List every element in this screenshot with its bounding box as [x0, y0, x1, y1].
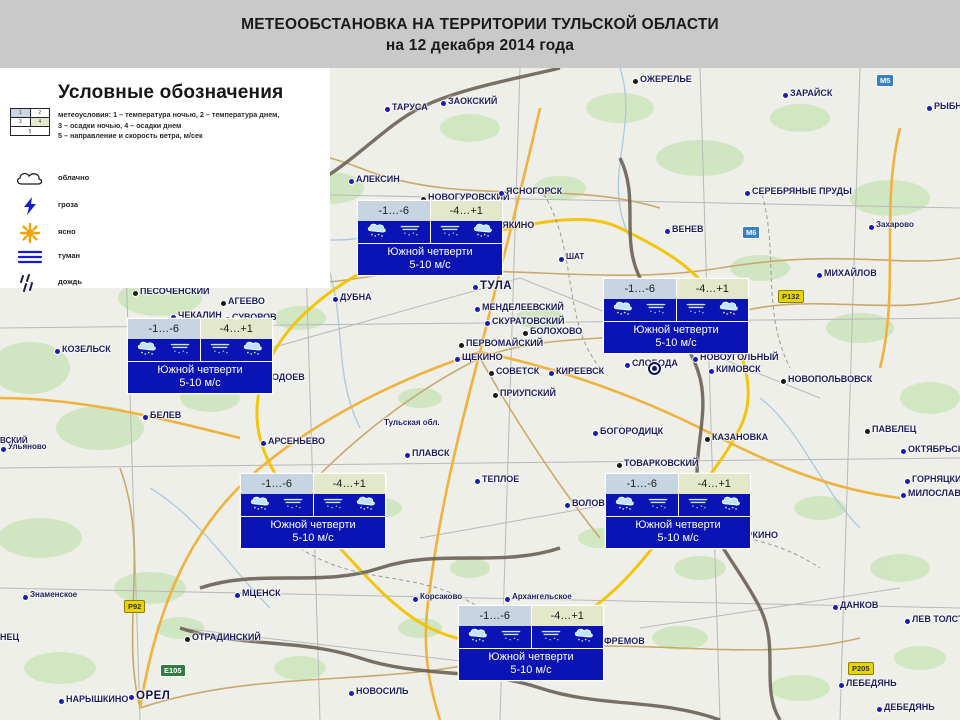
map-city-dot [1, 447, 6, 452]
temperature-night: -1…-6 [604, 279, 677, 299]
map-city-dot [235, 593, 240, 598]
callout-wind-row: Южной четверти5-10 м/с [128, 361, 272, 393]
callout-southeast[interactable]: -1…-6-4…+1 [605, 473, 751, 549]
road-shield: Е105 [160, 664, 186, 677]
callout-wind-row: Южной четверти5-10 м/с [606, 516, 750, 548]
wind-speed: 5-10 м/с [604, 337, 748, 350]
precipitation-day [532, 626, 604, 648]
fog-snow-icon [499, 628, 523, 647]
map-city-dot [221, 301, 226, 306]
temperature-day: -4…+1 [532, 606, 604, 626]
map-city-dot [817, 273, 822, 278]
map-focus-marker [648, 362, 661, 375]
snow-cloud-icon [472, 222, 494, 243]
map-city-dot [385, 107, 390, 112]
map-city-dot [905, 479, 910, 484]
callout-east[interactable]: -1…-6-4…+1 [603, 278, 749, 354]
map-city-dot [665, 229, 670, 234]
precipitation-day [679, 494, 751, 516]
map-city-dot [473, 285, 478, 290]
map-city-dot [745, 191, 750, 196]
schematic-cell-1: 1 [11, 109, 31, 117]
rain-icon [10, 270, 50, 296]
callout-wind-row: Южной четверти5-10 м/с [241, 516, 385, 548]
precipitation-night [128, 339, 201, 361]
temperature-day: -4…+1 [201, 319, 273, 339]
callout-temperature-row: -1…-6-4…+1 [241, 474, 385, 494]
legend-description-line-1: метеоусловия: 1 – температура ночью, 2 –… [58, 110, 320, 121]
wind-speed: 5-10 м/с [459, 664, 603, 677]
fog-snow-icon [646, 496, 670, 515]
snow-cloud-icon [249, 495, 271, 516]
road-shield: М6 [742, 226, 760, 239]
precipitation-night [604, 299, 677, 321]
map-city-dot [55, 349, 60, 354]
precipitation-day [677, 299, 749, 321]
precipitation-night [459, 626, 532, 648]
callout-west[interactable]: -1…-6-4…+1 [127, 318, 273, 394]
callout-temperature-row: -1…-6-4…+1 [459, 606, 603, 626]
title-line-2: на 12 декабря 2014 года [0, 35, 960, 56]
fog-snow-icon [168, 341, 192, 360]
map-city-dot [333, 297, 338, 302]
callout-wind-row: Южной четверти5-10 м/с [604, 321, 748, 353]
legend-item-fog-label: туман [58, 251, 80, 260]
map-city-dot [185, 637, 190, 642]
snow-cloud-icon [614, 495, 636, 516]
map-city-dot [405, 453, 410, 458]
precipitation-night [241, 494, 314, 516]
fog-snow-icon [321, 496, 345, 515]
map-city-dot [261, 441, 266, 446]
map-city-dot [839, 683, 844, 688]
callout-precipitation-row [604, 299, 748, 321]
slide-header: МЕТЕООБСТАНОВКА НА ТЕРРИТОРИИ ТУЛЬСКОЙ О… [0, 0, 960, 68]
fog-snow-icon [644, 301, 668, 320]
wind-speed: 5-10 м/с [241, 532, 385, 545]
map-city-dot [489, 371, 494, 376]
schematic-cell-4: 4 [31, 118, 50, 126]
map-city-dot [349, 691, 354, 696]
fog-snow-icon [539, 628, 563, 647]
callout-temperature-row: -1…-6-4…+1 [358, 201, 502, 221]
callout-wind-row: Южной четверти5-10 м/с [459, 648, 603, 680]
callout-precipitation-row [128, 339, 272, 361]
snow-cloud-icon [366, 222, 388, 243]
legend-item-cloud-label: облачно [58, 173, 89, 182]
map-city-dot [633, 79, 638, 84]
temperature-night: -1…-6 [358, 201, 431, 221]
fog-snow-icon [684, 301, 708, 320]
legend-item-fog: туман [0, 244, 330, 270]
wind-direction: Южной четверти [604, 324, 748, 337]
map-city-dot [781, 379, 786, 384]
wind-direction: Южной четверти [241, 519, 385, 532]
map-city-dot [475, 307, 480, 312]
wind-direction: Южной четверти [606, 519, 750, 532]
map-city-dot [877, 707, 882, 712]
sun-icon [10, 220, 50, 246]
map-city-dot [617, 463, 622, 468]
temperature-night: -1…-6 [241, 474, 314, 494]
map-city-dot [549, 371, 554, 376]
snow-cloud-icon [612, 300, 634, 321]
snow-cloud-icon [720, 495, 742, 516]
legend-item-rain: дождь [0, 270, 330, 296]
road-shield: Р92 [124, 600, 145, 613]
fog-snow-icon [208, 341, 232, 360]
wind-speed: 5-10 м/с [358, 259, 502, 272]
snow-cloud-icon [718, 300, 740, 321]
legend-item-sun-label: ясно [58, 227, 76, 236]
map-city-dot [441, 101, 446, 106]
wind-speed: 5-10 м/с [606, 532, 750, 545]
page-title: МЕТЕООБСТАНОВКА НА ТЕРРИТОРИИ ТУЛЬСКОЙ О… [0, 14, 960, 56]
map-city-dot [905, 619, 910, 624]
precipitation-day [314, 494, 386, 516]
legend-description-line-2: 3 – осадки ночью, 4 – осадки днем [58, 121, 320, 132]
map-city-dot [485, 321, 490, 326]
map-city-dot [693, 357, 698, 362]
map-city-dot [413, 597, 418, 602]
fog-snow-icon [281, 496, 305, 515]
fog-snow-icon [398, 223, 422, 242]
wind-direction: Южной четверти [128, 364, 272, 377]
map-city-dot [927, 106, 932, 111]
temperature-day: -4…+1 [431, 201, 503, 221]
map-city-dot [59, 699, 64, 704]
map-city-dot [493, 393, 498, 398]
legend-description: метеоусловия: 1 – температура ночью, 2 –… [58, 110, 320, 142]
callout-temperature-row: -1…-6-4…+1 [606, 474, 750, 494]
map-city-dot [565, 503, 570, 508]
fog-snow-icon [686, 496, 710, 515]
wind-speed: 5-10 м/с [128, 377, 272, 390]
snow-cloud-icon [136, 340, 158, 361]
map-city-dot [625, 363, 630, 368]
map-city-dot [559, 257, 564, 262]
precipitation-night [358, 221, 431, 243]
slide-root: МЕТЕООБСТАНОВКА НА ТЕРРИТОРИИ ТУЛЬСКОЙ О… [0, 0, 960, 720]
temperature-day: -4…+1 [677, 279, 749, 299]
snow-cloud-icon [573, 627, 595, 648]
map-city-dot [705, 437, 710, 442]
map-city-dot [593, 431, 598, 436]
fog-icon [10, 244, 50, 270]
map-city-dot [709, 369, 714, 374]
map-city-dot [901, 449, 906, 454]
map-city-dot [833, 605, 838, 610]
precipitation-day [431, 221, 503, 243]
callout-precipitation-row [241, 494, 385, 516]
snow-cloud-icon [242, 340, 264, 361]
map-city-dot [523, 331, 528, 336]
map-city-dot [143, 415, 148, 420]
legend-schematic-table: 1 2 3 4 5 [10, 108, 50, 136]
lightning-icon [10, 193, 50, 219]
snow-cloud-icon [355, 495, 377, 516]
title-line-1: МЕТЕООБСТАНОВКА НА ТЕРРИТОРИИ ТУЛЬСКОЙ О… [241, 16, 719, 33]
precipitation-day [201, 339, 273, 361]
temperature-night: -1…-6 [128, 319, 201, 339]
map-city-dot [865, 429, 870, 434]
schematic-cell-3: 3 [11, 118, 31, 126]
map-city-dot [475, 479, 480, 484]
map-city-dot [129, 695, 134, 700]
legend-item-rain-label: дождь [58, 277, 82, 286]
wind-direction: Южной четверти [358, 246, 502, 259]
map-city-dot [505, 597, 510, 602]
cloud-icon [10, 166, 50, 192]
fog-snow-icon [438, 223, 462, 242]
callout-wind-row: Южной четверти5-10 м/с [358, 243, 502, 275]
callout-temperature-row: -1…-6-4…+1 [128, 319, 272, 339]
legend-item-cloud: облачно [0, 166, 330, 192]
map-city-dot [459, 343, 464, 348]
legend-title: Условные обозначения [58, 82, 283, 104]
map-city-dot [499, 191, 504, 196]
road-shield: М5 [876, 74, 894, 87]
map-city-dot [349, 179, 354, 184]
road-shield: Р132 [778, 290, 804, 303]
map-city-dot [455, 357, 460, 362]
callout-precipitation-row [459, 626, 603, 648]
legend-item-lightning: гроза [0, 193, 330, 219]
schematic-cell-2: 2 [31, 109, 50, 117]
map-city-dot [23, 595, 28, 600]
road-shield: Р205 [848, 662, 874, 675]
temperature-night: -1…-6 [459, 606, 532, 626]
callout-precipitation-row [606, 494, 750, 516]
callout-temperature-row: -1…-6-4…+1 [604, 279, 748, 299]
map-city-dot [901, 493, 906, 498]
schematic-cell-5: 5 [11, 127, 49, 137]
legend-item-sun: ясно [0, 220, 330, 246]
callout-south[interactable]: -1…-6-4…+1 [458, 605, 604, 681]
map-city-dot [869, 225, 874, 230]
snow-cloud-icon [467, 627, 489, 648]
map-city-dot [783, 93, 788, 98]
temperature-day: -4…+1 [314, 474, 386, 494]
temperature-night: -1…-6 [606, 474, 679, 494]
callout-southwest[interactable]: -1…-6-4…+1 [240, 473, 386, 549]
callout-precipitation-row [358, 221, 502, 243]
legend-description-line-3: 5 – направление и скорость ветра, м/сек [58, 131, 320, 142]
temperature-day: -4…+1 [679, 474, 751, 494]
legend-item-lightning-label: гроза [58, 200, 78, 209]
precipitation-night [606, 494, 679, 516]
callout-north[interactable]: -1…-6-4…+1 [357, 200, 503, 276]
legend-panel: Условные обозначения 1 2 3 4 5 метеоусло… [0, 68, 330, 288]
wind-direction: Южной четверти [459, 651, 603, 664]
